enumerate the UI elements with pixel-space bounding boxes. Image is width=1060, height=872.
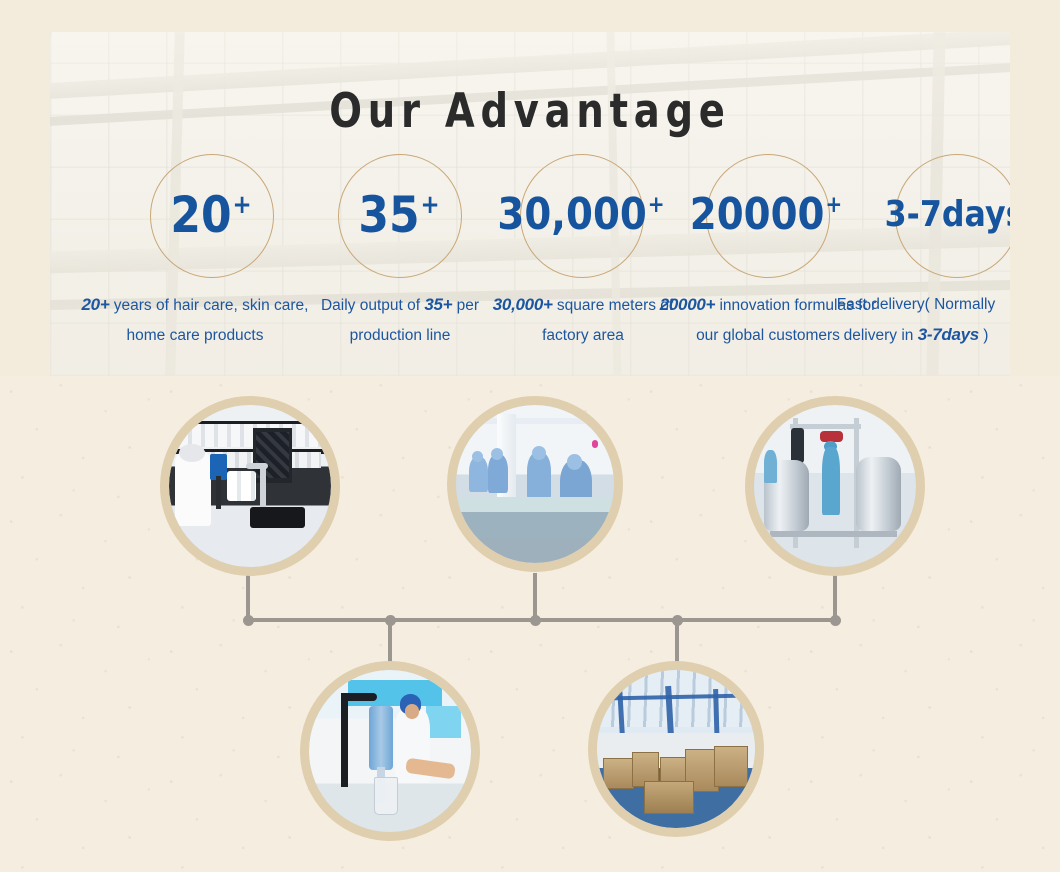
stat-desc-text: years of hair care, skin care, home care… (109, 297, 308, 344)
advantage-banner: Our Advantage 20+ 35+ 30,000+ 20000+ 3-7… (50, 32, 1010, 376)
white-bottles (227, 471, 256, 500)
connector-node (830, 615, 841, 626)
faucet (260, 463, 266, 508)
stat-desc-highlight: 20+ (82, 295, 110, 314)
stat-number-daily-output: 35+ (345, 154, 452, 276)
bench-base (456, 512, 614, 537)
stat-value: 20 (170, 190, 231, 240)
connector-stem-photo-lab-homogenizer (388, 620, 392, 664)
stat-value: 20000 (690, 193, 825, 237)
stat-suffix: + (648, 194, 665, 217)
connector-stem-photo-warehouse (675, 620, 679, 664)
photo-lab-homogenizer[interactable] (300, 661, 480, 841)
stat-desc-highlight: 20000+ (660, 295, 715, 314)
connector-rail (249, 618, 836, 622)
connector-node (243, 615, 254, 626)
window (426, 706, 462, 738)
photo-image (597, 670, 755, 828)
facility-photo-network (0, 376, 1060, 872)
stat-desc-daily-output: Daily output of 35+ per production line (312, 290, 488, 351)
connector-node (385, 615, 396, 626)
photo-mixing-tanks[interactable] (745, 396, 925, 576)
stat-desc-delivery-time: Fast delivery( Normally delivery in 3-7d… (820, 290, 1010, 351)
photo-image (754, 405, 916, 567)
stat-descriptions-row: 20+ years of hair care, skin care, home … (50, 290, 1010, 376)
page-title: Our Advantage (136, 84, 923, 139)
stat-number-factory-area: 30,000+ (501, 154, 661, 276)
stat-number-delivery-time: 3-7days (854, 154, 1010, 276)
pallet-stack (603, 758, 633, 788)
pallet-stack (714, 746, 748, 788)
stat-desc-highlight: 30,000+ (493, 295, 553, 314)
lab-worker-cap (179, 444, 205, 462)
stat-value: 35 (358, 190, 419, 240)
photo-image (169, 405, 331, 567)
connector-stem-photo-production-line (533, 573, 537, 621)
stat-desc-highlight: 35+ (424, 295, 452, 314)
sink-basin (250, 507, 305, 528)
worker-head (472, 451, 483, 462)
photo-image (456, 405, 614, 563)
stat-value: 30,000 (497, 193, 646, 237)
worker-body (822, 447, 840, 515)
homogenizer-column (369, 706, 393, 771)
stat-number-innovation-formulas: 20000+ (678, 154, 854, 276)
connector-node (672, 615, 683, 626)
stat-suffix: + (825, 194, 842, 217)
ceiling-strip (456, 418, 614, 424)
connector-node (530, 615, 541, 626)
photo-image (309, 670, 471, 832)
photo-warehouse[interactable] (588, 661, 764, 837)
stat-circles-row: 20+ 35+ 30,000+ 20000+ 3-7days (50, 154, 1010, 280)
pink-sign (592, 440, 598, 448)
stat-desc-years-experience: 20+ years of hair care, skin care, home … (80, 290, 310, 351)
platform (770, 531, 896, 537)
assembly-bench (456, 497, 614, 513)
stat-suffix: + (420, 192, 439, 218)
stat-desc-text: ) (979, 327, 988, 344)
tank-motor (791, 428, 804, 464)
worker-body (764, 450, 777, 482)
mixing-tank (856, 457, 901, 532)
beaker (374, 777, 399, 815)
lab-worker-face (405, 704, 420, 719)
stat-desc-text: square meters of factory area (542, 297, 673, 344)
stat-desc-factory-area: 30,000+ square meters of factory area (480, 290, 686, 351)
stat-desc-highlight: 3-7days (918, 325, 979, 344)
black-pole (341, 693, 347, 787)
connector-stem-photo-lab-quality-control (246, 573, 250, 621)
worker-body (469, 457, 488, 492)
bottle-rack (179, 424, 322, 447)
mixer-stand (216, 476, 221, 508)
pallet-stack (644, 781, 693, 815)
stat-desc-lead: Daily output of (321, 297, 424, 314)
stat-suffix: + (232, 192, 251, 218)
stat-value: 3-7days (885, 197, 1010, 233)
worker-head (567, 454, 583, 470)
connector-stem-photo-mixing-tanks (833, 573, 837, 621)
photo-production-line[interactable] (447, 396, 623, 572)
stat-number-years-experience: 20+ (157, 154, 264, 276)
photo-lab-quality-control[interactable] (160, 396, 340, 576)
